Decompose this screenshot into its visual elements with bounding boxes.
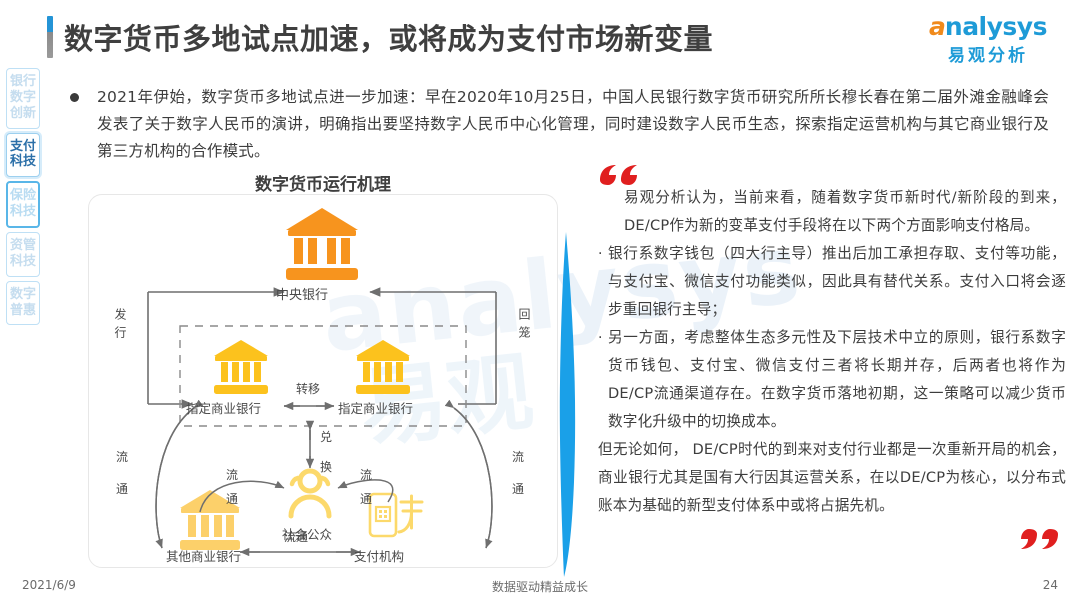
point-bullet-icon: · xyxy=(598,324,608,436)
logo-chinese: 易观分析 xyxy=(922,41,1054,66)
public-person-icon xyxy=(291,471,329,516)
edge-label-transfer: 转移 xyxy=(296,380,320,397)
sidebar-item-payment-tech[interactable]: 支付科技 xyxy=(6,133,40,178)
title-accent-bar xyxy=(47,16,53,58)
edge-label-circ-bottom: 流通 xyxy=(284,528,308,545)
right-point-1: · 银行系数字钱包（四大行主导）推出后加工承担存取、支付等功能，与支付宝、微信支… xyxy=(598,240,1066,324)
sidebar-item-digital-inclusive-finance[interactable]: 数字普惠 xyxy=(6,281,40,326)
brand-logo: analysys 易观分析 xyxy=(922,14,1054,66)
right-panel: 易观分析认为，当前来看，随着数字货币新时代/新阶段的到来，DE/CP作为新的变革… xyxy=(598,160,1066,520)
diagram-svg xyxy=(88,194,556,566)
bullet-paragraph: 2021年伊始，数字货币多地试点进一步加速：早在2020年10月25日，中国人民… xyxy=(70,84,1070,165)
edge-label-circ-mid-right-1: 流 xyxy=(360,466,372,483)
sidebar-item-asset-management-tech[interactable]: 资管科技 xyxy=(6,232,40,277)
node-label-designated-bank-2: 指定商业银行 xyxy=(338,398,413,417)
sidebar-item-label: 保险科技 xyxy=(8,188,38,220)
bullet-dot-icon xyxy=(70,93,79,102)
right-point-2: · 另一方面，考虑整体生态多元性及下层技术中立的原则，银行系数字货币钱包、支付宝… xyxy=(598,324,1066,436)
diagram-title: 数字货币运行机理 xyxy=(88,170,558,195)
edge-label-circ-mid-left-2: 通 xyxy=(226,490,238,507)
quote-open-icon xyxy=(598,164,640,188)
edge-label-exchange-1: 兑 xyxy=(320,428,332,445)
sidebar-item-label: 资管科技 xyxy=(7,238,39,270)
payment-org-icon xyxy=(370,494,422,536)
edge-label-circ-right-1: 流 xyxy=(512,448,524,465)
footer-page-number: 24 xyxy=(1043,578,1058,592)
diagram: 中央银行 指定商业银行 指定商业银行 社会公众 其他商业银行 支付机构 发行 回… xyxy=(88,194,556,566)
logo-letter-a: a xyxy=(929,14,945,39)
node-label-central-bank: 中央银行 xyxy=(276,284,328,303)
edge-label-circ-left-2: 通 xyxy=(116,480,128,497)
bullet-text: 2021年伊始，数字货币多地试点进一步加速：早在2020年10月25日，中国人民… xyxy=(97,84,1049,165)
edge-label-circ-left-1: 流 xyxy=(116,448,128,465)
edge-label-circ-mid-left-1: 流 xyxy=(226,466,238,483)
page-title: 数字货币多地试点加速，或将成为支付市场新变量 xyxy=(47,16,713,58)
blue-lens-divider xyxy=(552,232,578,577)
designated-bank-2-icon xyxy=(356,340,410,394)
right-point-2-text: 另一方面，考虑整体生态多元性及下层技术中立的原则，银行系数字货币钱包、支付宝、微… xyxy=(608,324,1066,436)
footer-slogan: 数据驱动精益成长 xyxy=(0,578,1080,595)
right-conclusion-text: 但无论如何， DE/CP时代的到来对支付行业都是一次重新开局的机会，商业银行尤其… xyxy=(598,436,1066,520)
slide: analysys 易观 数字货币多地试点加速，或将成为支付市场新变量 analy… xyxy=(0,0,1080,608)
point-bullet-icon: · xyxy=(598,240,608,324)
right-point-1-text: 银行系数字钱包（四大行主导）推出后加工承担存取、支付等功能，与支付宝、微信支付功… xyxy=(608,240,1066,324)
logo-wordmark: nalysys xyxy=(945,14,1047,39)
edge-label-circ-right-2: 通 xyxy=(512,480,524,497)
edge-label-withdraw: 回笼 xyxy=(516,308,533,344)
sidebar-item-label: 银行数字创新 xyxy=(7,74,39,122)
sidebar: 银行数字创新 支付科技 保险科技 资管科技 数字普惠 xyxy=(6,68,42,329)
sidebar-item-label: 支付科技 xyxy=(7,139,39,171)
node-label-designated-bank-1: 指定商业银行 xyxy=(186,398,261,417)
title-text: 数字货币多地试点加速，或将成为支付市场新变量 xyxy=(64,16,713,58)
right-intro-text: 易观分析认为，当前来看，随着数字货币新时代/新阶段的到来，DE/CP作为新的变革… xyxy=(598,184,1066,240)
edge-label-circ-mid-right-2: 通 xyxy=(360,490,372,507)
footer: 2021/6/9 数据驱动精益成长 24 xyxy=(0,578,1080,598)
node-label-payment-org: 支付机构 xyxy=(354,546,404,565)
sidebar-item-insurance-tech[interactable]: 保险科技 xyxy=(6,181,40,228)
edge-label-exchange-2: 换 xyxy=(320,458,332,475)
quote-close-icon xyxy=(1018,526,1060,550)
designated-bank-1-icon xyxy=(214,340,268,394)
sidebar-item-bank-digital-innovation[interactable]: 银行数字创新 xyxy=(6,68,40,129)
central-bank-icon xyxy=(286,208,358,280)
sidebar-item-label: 数字普惠 xyxy=(7,287,39,319)
node-label-other-bank: 其他商业银行 xyxy=(166,546,241,565)
edge-label-issue: 发行 xyxy=(112,308,129,344)
